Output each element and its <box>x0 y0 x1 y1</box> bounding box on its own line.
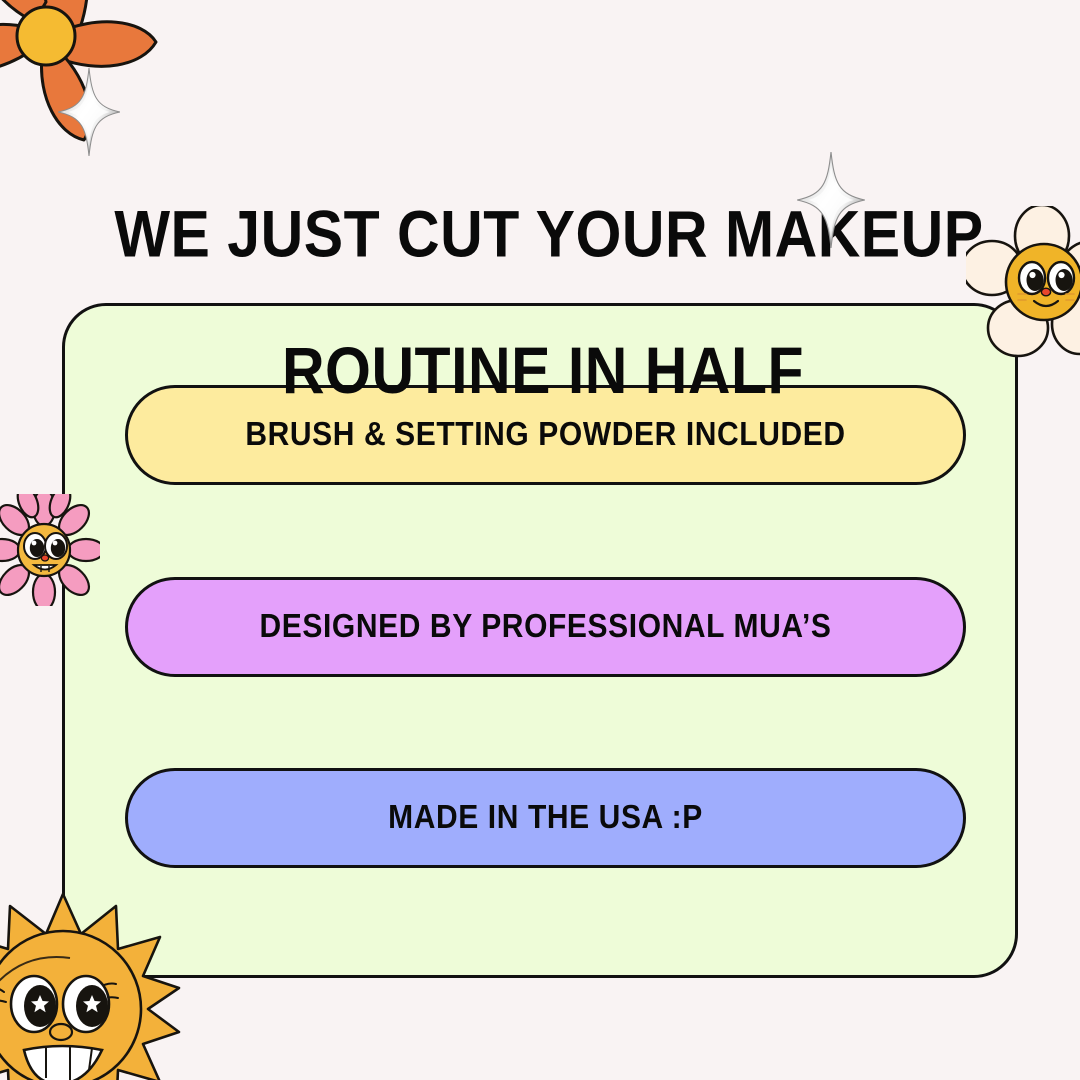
sun-character-icon <box>0 892 181 1080</box>
feature-pill-label: DESIGNED BY PROFESSIONAL MUA’S <box>260 608 832 645</box>
feature-pill-label: MADE IN THE USA :P <box>388 799 703 836</box>
feature-pill-designed-by-muas[interactable]: DESIGNED BY PROFESSIONAL MUA’S <box>125 577 966 677</box>
page-title: WE JUST CUT YOUR MAKEUP ROUTINE IN HALF <box>0 132 1080 474</box>
sparkle-icon <box>58 68 120 156</box>
poster-canvas: WE JUST CUT YOUR MAKEUP ROUTINE IN HALF … <box>0 0 1080 1080</box>
feature-pill-made-in-usa[interactable]: MADE IN THE USA :P <box>125 768 966 868</box>
sparkle-icon <box>797 152 865 248</box>
headline-line-2: ROUTINE IN HALF <box>0 336 1080 404</box>
headline-line-1: WE JUST CUT YOUR MAKEUP <box>0 200 1080 268</box>
pink-daisy-flower-icon <box>0 494 100 606</box>
